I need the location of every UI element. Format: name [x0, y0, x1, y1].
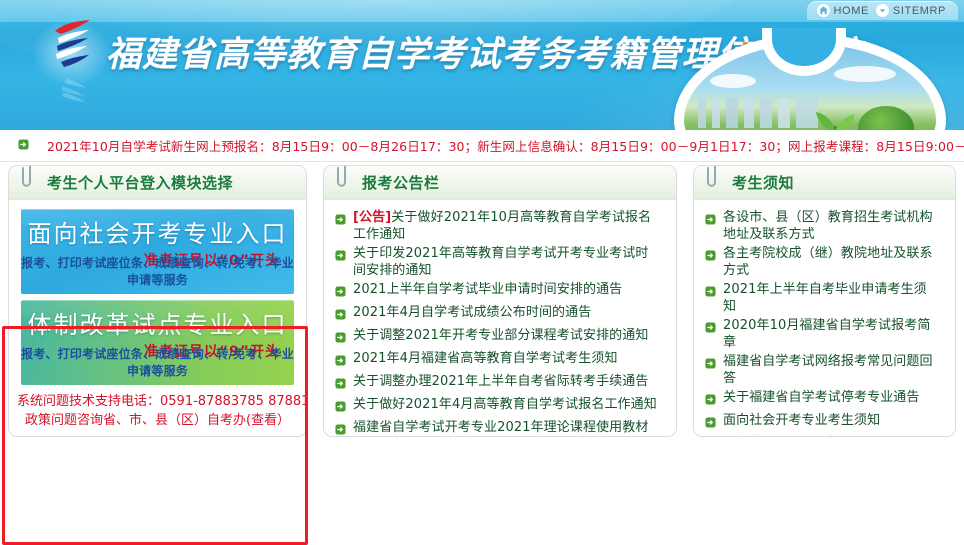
login-module-panel-title: 考生个人平台登入模块选择	[47, 172, 233, 193]
list-item[interactable]: 面向社会开考专业报考流程	[702, 435, 947, 437]
list-item-label: 面向社会开考专业报考流程	[723, 435, 880, 437]
tree-icon	[858, 106, 914, 130]
paperclip-icon	[19, 165, 41, 194]
arrow-right-icon	[335, 307, 346, 325]
list-item[interactable]: 关于调整办理2021年上半年自考省际转考手续通告	[332, 373, 668, 394]
login-module-panel: 考生个人平台登入模块选择 面向社会开考专业入口 准考证号以“0”开头 报考、打印…	[8, 165, 307, 437]
notice-bar-text[interactable]: 2021年10月自学考试新生网上预报名：8月15日9：00－8月26日17：30…	[47, 136, 964, 155]
arrow-right-icon	[335, 422, 346, 437]
arrow-right-icon	[705, 320, 716, 338]
list-item-label: 福建省自学考试开考专业2021年理论课程使用教材目录	[353, 419, 658, 437]
login-module-panel-header: 考生个人平台登入模块选择	[9, 166, 306, 200]
list-item-label: 2021年4月福建省高等教育自学考试考生须知	[353, 350, 618, 367]
list-item-text: 关于做好2021年10月高等教育自学考试报名工作通知	[353, 210, 651, 242]
header-nav: HOME SITEMRP	[807, 1, 959, 20]
main-content: 考生个人平台登入模块选择 面向社会开考专业入口 准考证号以“0”开头 报考、打印…	[0, 162, 964, 442]
announcement-tag: [公告]	[353, 210, 391, 225]
entry-description: 报考、打印考试座位条、成绩查询、转/免考、毕业申请等服务	[21, 254, 294, 288]
announcement-panel: 报考公告栏 [公告]关于做好2021年10月高等教育自学考试报名工作通知	[323, 165, 677, 437]
arrow-right-icon	[705, 284, 716, 302]
list-item-label: 2020年10月福建省自学考试报考简章	[723, 317, 938, 351]
list-item[interactable]: 关于调整2021年开考专业部分课程考试安排的通知	[332, 327, 668, 348]
arrow-right-icon	[705, 392, 716, 410]
list-item-label: 关于印发2021年高等教育自学考试开考专业考试时间安排的通知	[353, 245, 658, 279]
entry-reform-pilot-major[interactable]: 体制改革试点专业入口 准考证号以“9”开头 报考、打印考试座位条、成绩查询、转/…	[21, 300, 294, 385]
entry-description: 报考、打印考试座位条、成绩查询、转/免考、毕业申请等服务	[21, 345, 294, 379]
nav-link-sitemap[interactable]: SITEMRP	[876, 4, 946, 17]
nav-link-home-label: HOME	[834, 5, 869, 17]
list-item-label: [公告]关于做好2021年10月高等教育自学考试报名工作通知	[353, 209, 658, 243]
announcement-panel-body: [公告]关于做好2021年10月高等教育自学考试报名工作通知 关于印发2021年…	[324, 200, 676, 437]
list-item[interactable]: 福建省自学考试网络报考常见问题回答	[702, 353, 947, 387]
arrow-right-icon	[335, 248, 346, 266]
list-item[interactable]: 关于福建省自学考试停考专业通告	[702, 389, 947, 410]
list-item[interactable]: 面向社会开考专业考生须知	[702, 412, 947, 433]
support-info: 系统问题技术支持电话：0591-87883785 87881896 政策问题咨询…	[17, 392, 298, 430]
fujian-self-study-logo	[48, 18, 94, 70]
arrow-right-icon	[18, 137, 29, 155]
list-item-label: 关于调整2021年开考专业部分课程考试安排的通知	[353, 327, 648, 344]
middle-column: 报考公告栏 [公告]关于做好2021年10月高等教育自学考试报名工作通知	[315, 162, 685, 442]
examinee-notice-list: 各设市、县（区）教育招生考试机构地址及联系方式 各主考院校成（继）教院地址及联系…	[702, 209, 947, 437]
announcement-panel-title: 报考公告栏	[362, 172, 440, 193]
arrow-right-icon	[335, 399, 346, 417]
entry-social-exam-major[interactable]: 面向社会开考专业入口 准考证号以“0”开头 报考、打印考试座位条、成绩查询、转/…	[21, 209, 294, 294]
arrow-right-icon	[705, 212, 716, 230]
arrow-right-icon	[335, 330, 346, 348]
nav-link-sitemap-label: SITEMRP	[893, 5, 946, 17]
announcement-list: [公告]关于做好2021年10月高等教育自学考试报名工作通知 关于印发2021年…	[332, 209, 668, 437]
list-item[interactable]: 关于做好2021年4月高等教育自学考试报名工作通知	[332, 396, 668, 417]
site-header: HOME SITEMRP	[0, 0, 964, 130]
list-item[interactable]: 2020年10月福建省自学考试报考简章	[702, 317, 947, 351]
support-phone-line: 系统问题技术支持电话：0591-87883785 87881896	[17, 392, 298, 411]
arrow-right-icon	[335, 212, 346, 230]
examinee-notice-panel-title: 考生须知	[732, 172, 794, 193]
list-item[interactable]: 关于印发2021年高等教育自学考试开考专业考试时间安排的通知	[332, 245, 668, 279]
examinee-notice-panel-body: 各设市、县（区）教育招生考试机构地址及联系方式 各主考院校成（继）教院地址及联系…	[694, 200, 955, 437]
right-column: 考生须知 各设市、县（区）教育招生考试机构地址及联系方式	[685, 162, 964, 442]
examinee-notice-panel: 考生须知 各设市、县（区）教育招生考试机构地址及联系方式	[693, 165, 956, 437]
arrow-right-icon	[335, 376, 346, 394]
list-item-label: 各设市、县（区）教育招生考试机构地址及联系方式	[723, 209, 938, 243]
list-item-label: 面向社会开考专业考生须知	[723, 412, 880, 429]
cloud-icon	[710, 74, 756, 88]
notice-bar: 2021年10月自学考试新生网上预报名：8月15日9：00－8月26日17：30…	[0, 130, 964, 162]
examinee-notice-panel-header: 考生须知	[694, 166, 955, 200]
list-item[interactable]: 2021上半年自学考试毕业申请时间安排的通告	[332, 281, 668, 302]
arrow-right-icon	[705, 356, 716, 374]
cloud-icon	[834, 66, 896, 82]
sprout-icon	[810, 110, 860, 130]
list-item[interactable]: 2021年4月福建省高等教育自学考试考生须知	[332, 350, 668, 371]
list-item-label: 关于福建省自学考试停考专业通告	[723, 389, 920, 406]
arrow-right-icon	[705, 415, 716, 433]
announcement-panel-header: 报考公告栏	[324, 166, 676, 200]
arrow-right-icon	[335, 353, 346, 371]
list-item-label: 关于做好2021年4月高等教育自学考试报名工作通知	[353, 396, 657, 413]
list-item-label: 2021上半年自学考试毕业申请时间安排的通告	[353, 281, 622, 298]
list-item-label: 2021年上半年自考毕业申请考生须知	[723, 281, 938, 315]
list-item-label: 福建省自学考试网络报考常见问题回答	[723, 353, 938, 387]
left-column: 考生个人平台登入模块选择 面向社会开考专业入口 准考证号以“0”开头 报考、打印…	[0, 162, 315, 442]
list-item-label: 关于调整办理2021年上半年自考省际转考手续通告	[353, 373, 648, 390]
chevron-down-icon	[876, 4, 889, 17]
entry-title: 面向社会开考专业入口	[21, 214, 294, 249]
paperclip-icon	[704, 165, 726, 194]
page-root: HOME SITEMRP	[0, 0, 964, 442]
home-icon	[817, 4, 830, 17]
login-module-panel-body: 面向社会开考专业入口 准考证号以“0”开头 报考、打印考试座位条、成绩查询、转/…	[9, 200, 306, 434]
list-item[interactable]: [公告]关于做好2021年10月高等教育自学考试报名工作通知	[332, 209, 668, 243]
city-skyline	[698, 98, 818, 128]
nav-link-home[interactable]: HOME	[817, 4, 869, 17]
arrow-right-icon	[335, 284, 346, 302]
nature-motif-decoration	[656, 28, 956, 130]
list-item-label: 各主考院校成（继）教院地址及联系方式	[723, 245, 938, 279]
paperclip-icon	[334, 165, 356, 194]
policy-consult-line[interactable]: 政策问题咨询省、市、县（区）自考办(查看）	[17, 411, 298, 430]
list-item[interactable]: 2021年上半年自考毕业申请考生须知	[702, 281, 947, 315]
list-item[interactable]: 2021年4月自学考试成绩公布时间的通告	[332, 304, 668, 325]
list-item-label: 2021年4月自学考试成绩公布时间的通告	[353, 304, 591, 321]
logo-reflection	[52, 72, 92, 102]
list-item[interactable]: 福建省自学考试开考专业2021年理论课程使用教材目录	[332, 419, 668, 437]
list-item[interactable]: 各主考院校成（继）教院地址及联系方式	[702, 245, 947, 279]
arrow-right-icon	[705, 248, 716, 266]
list-item[interactable]: 各设市、县（区）教育招生考试机构地址及联系方式	[702, 209, 947, 243]
entry-title: 体制改革试点专业入口	[21, 305, 294, 340]
